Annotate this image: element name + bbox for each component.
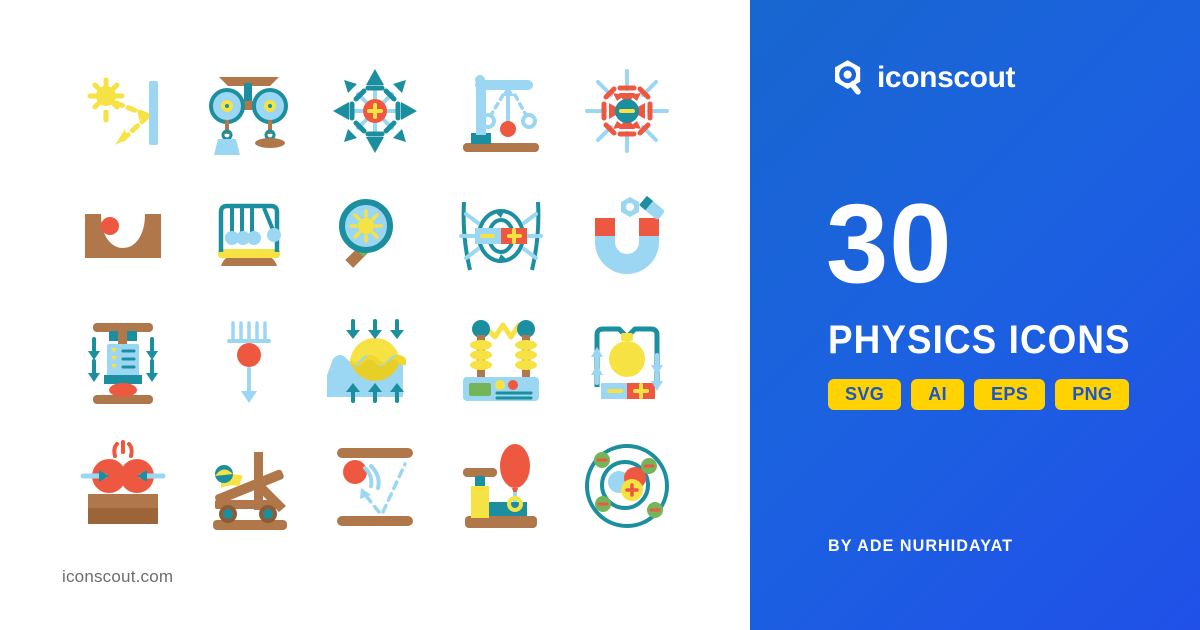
site-url[interactable]: iconscout.com bbox=[62, 567, 173, 587]
icon-pack-preview: iconscout.com iconscout 30 PHYSICS ICONS… bbox=[0, 0, 1200, 630]
icon-cell-hydraulic-press[interactable] bbox=[60, 298, 186, 423]
evaporation-water-sun-icon bbox=[327, 313, 423, 409]
format-badge-png[interactable]: PNG bbox=[1055, 379, 1129, 410]
negative-charge-field-icon bbox=[579, 63, 675, 159]
magnifying-sunlight-icon bbox=[327, 188, 423, 284]
positive-charge-field-icon bbox=[327, 63, 423, 159]
icon-cell-evaporation-water-sun[interactable] bbox=[312, 298, 438, 423]
free-fall-gravity-icon bbox=[201, 313, 297, 409]
icon-cell-newtons-cradle[interactable] bbox=[186, 173, 312, 298]
light-reflection-mirror-icon bbox=[75, 63, 171, 159]
icon-cell-bar-magnet-field-lines[interactable] bbox=[438, 173, 564, 298]
icon-cell-positive-charge-field[interactable] bbox=[312, 48, 438, 173]
format-badge-eps[interactable]: EPS bbox=[974, 379, 1045, 410]
icon-cell-bouncing-ball[interactable] bbox=[312, 423, 438, 548]
brand[interactable]: iconscout bbox=[828, 58, 1015, 98]
icon-grid bbox=[60, 48, 690, 548]
potential-energy-bowl-icon bbox=[75, 188, 171, 284]
bar-magnet-field-lines-icon bbox=[453, 188, 549, 284]
catapult-icon bbox=[201, 438, 297, 534]
icon-cell-magnifying-sunlight[interactable] bbox=[312, 173, 438, 298]
atom-model-icon bbox=[579, 438, 675, 534]
icon-cell-pulley-balance-weight[interactable] bbox=[186, 48, 312, 173]
horseshoe-magnet-icon bbox=[579, 188, 675, 284]
hydraulic-press-icon bbox=[75, 313, 171, 409]
format-badge-list: SVG AI EPS PNG bbox=[828, 379, 1129, 410]
icon-cell-horseshoe-magnet[interactable] bbox=[564, 173, 690, 298]
icon-cell-light-reflection-mirror[interactable] bbox=[60, 48, 186, 173]
icon-cell-potential-energy-bowl[interactable] bbox=[60, 173, 186, 298]
icon-cell-atom-model[interactable] bbox=[564, 423, 690, 548]
pendulum-stand-icon bbox=[453, 63, 549, 159]
icon-cell-catapult[interactable] bbox=[186, 423, 312, 548]
pack-title: PHYSICS ICONS bbox=[828, 318, 1131, 363]
brand-name: iconscout bbox=[877, 61, 1015, 95]
icon-cell-electric-arc-generator[interactable] bbox=[438, 298, 564, 423]
info-panel: iconscout 30 PHYSICS ICONS SVG AI EPS PN… bbox=[750, 0, 1200, 630]
newtons-cradle-icon bbox=[201, 188, 297, 284]
icon-cell-air-pump-balloon[interactable] bbox=[438, 423, 564, 548]
pulley-balance-weight-icon bbox=[201, 63, 297, 159]
icon-cell-free-fall-gravity[interactable] bbox=[186, 298, 312, 423]
electric-circuit-bulb-icon bbox=[579, 313, 675, 409]
elastic-collision-icon bbox=[75, 438, 171, 534]
air-pump-balloon-icon bbox=[453, 438, 549, 534]
icon-count: 30 bbox=[826, 188, 953, 300]
author-credit: BY ADE NURHIDAYAT bbox=[828, 536, 1013, 556]
electric-arc-generator-icon bbox=[453, 313, 549, 409]
icon-cell-negative-charge-field[interactable] bbox=[564, 48, 690, 173]
icon-grid-pane: iconscout.com bbox=[0, 0, 750, 630]
iconscout-hexagon-logo-icon bbox=[828, 58, 868, 98]
bouncing-ball-icon bbox=[327, 438, 423, 534]
icon-cell-pendulum-stand[interactable] bbox=[438, 48, 564, 173]
format-badge-svg[interactable]: SVG bbox=[828, 379, 901, 410]
icon-cell-elastic-collision[interactable] bbox=[60, 423, 186, 548]
format-badge-ai[interactable]: AI bbox=[911, 379, 964, 410]
icon-cell-electric-circuit-bulb[interactable] bbox=[564, 298, 690, 423]
